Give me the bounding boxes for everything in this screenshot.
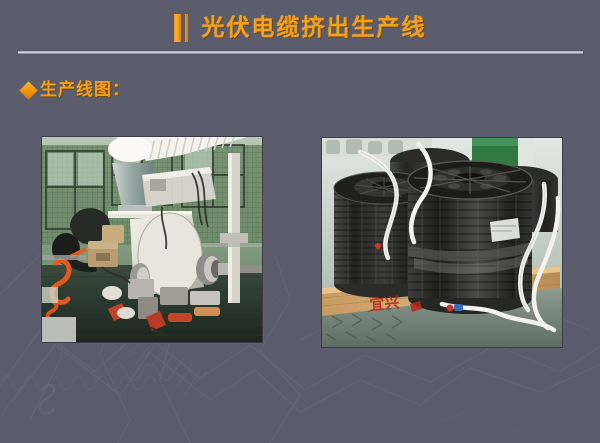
title-divider <box>18 51 583 54</box>
extrusion-machine-photo <box>42 137 262 342</box>
section-heading-label: 生产线图： <box>40 80 130 100</box>
section-heading: 生产线图： <box>22 80 130 100</box>
slide-title-row: 光伏电缆挤出生产线 <box>0 8 600 48</box>
diamond-bullet-icon <box>19 81 37 99</box>
slide-canvas: 光伏电缆挤出生产线 生产线图： <box>0 0 600 443</box>
title-accent-bar-thin <box>185 14 188 42</box>
pallet-stencil-text: 宜兴 <box>369 293 400 314</box>
page-title: 光伏电缆挤出生产线 <box>202 13 427 43</box>
cable-spools-photo: 宜兴 <box>322 138 562 347</box>
title-accent-bar-thick <box>174 14 181 42</box>
